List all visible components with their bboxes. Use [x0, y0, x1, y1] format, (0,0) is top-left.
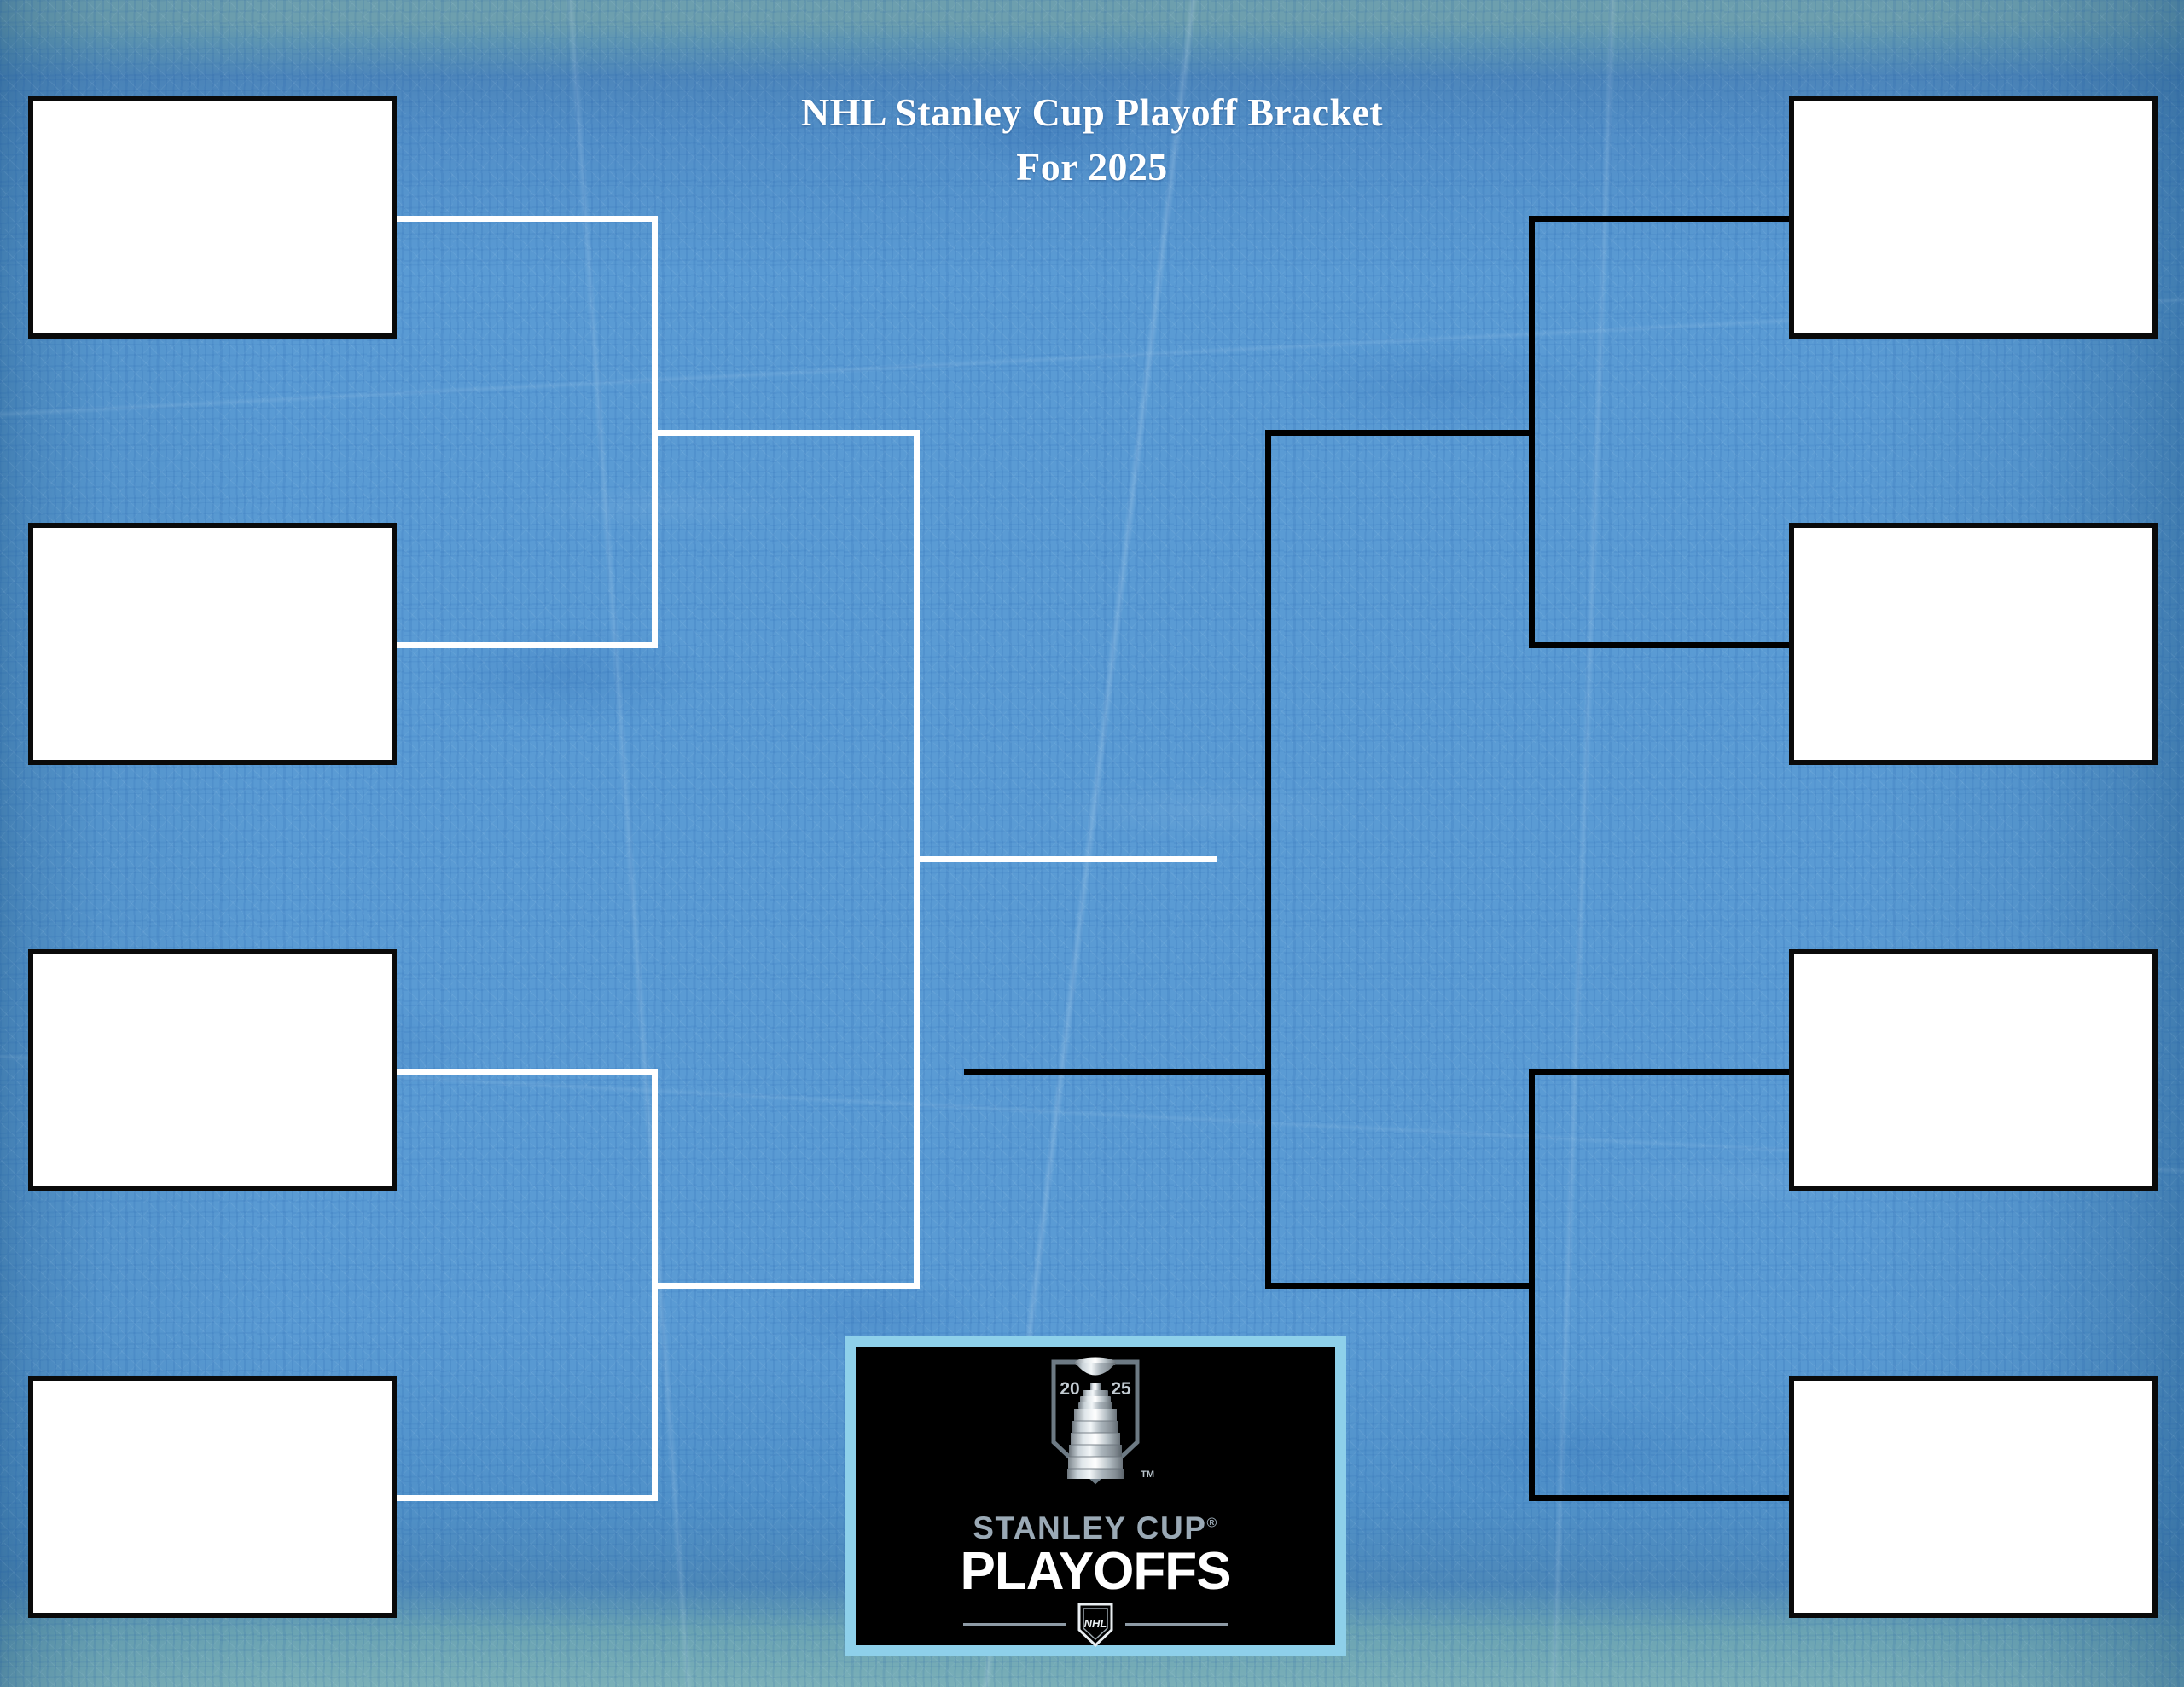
logo-divider-row: NHL — [856, 1601, 1335, 1649]
left-connector-bottom-horizontal-a — [395, 642, 658, 648]
logo-inner-panel: 20 25 — [856, 1347, 1335, 1645]
nhl-shield-icon: NHL — [1074, 1601, 1117, 1649]
svg-text:25: 25 — [1111, 1379, 1131, 1399]
right-connector-feed-c — [1265, 430, 1535, 436]
right-connector-bottom-horizontal-c — [1529, 642, 1793, 648]
right-connector-top-horizontal-d — [1529, 1069, 1793, 1075]
stanley-cup-playoffs-logo: 20 25 — [845, 1336, 1346, 1656]
svg-text:NHL: NHL — [1084, 1617, 1107, 1630]
right-connector-top-horizontal-c — [1529, 216, 1793, 222]
bracket-poster: NHL Stanley Cup Playoff Bracket For 2025 — [0, 0, 2184, 1687]
right-slot-3[interactable] — [1789, 949, 2158, 1191]
left-connector-bottom-horizontal-b — [395, 1495, 658, 1501]
stanley-cup-trophy-icon: 20 25 — [1042, 1354, 1149, 1509]
left-conference-final-output — [914, 856, 1217, 862]
left-connector-top-horizontal-b — [395, 1069, 658, 1075]
left-slot-2[interactable] — [28, 523, 397, 765]
left-connector-feed-a — [652, 430, 920, 436]
logo-divider-left — [963, 1623, 1066, 1626]
left-connector-top-horizontal-a — [395, 216, 658, 222]
left-connector-feed-b — [652, 1283, 920, 1289]
right-slot-1[interactable] — [1789, 96, 2158, 339]
right-conference-final-output — [964, 1069, 1271, 1075]
left-slot-4[interactable] — [28, 1376, 397, 1618]
right-slot-4[interactable] — [1789, 1376, 2158, 1618]
left-slot-3[interactable] — [28, 949, 397, 1191]
trademark-icon: TM — [1141, 1470, 1154, 1480]
logo-wordmark-stanley-cup: STANLEY CUP® — [973, 1510, 1217, 1546]
logo-wordmark-playoffs: PLAYOFFS — [961, 1545, 1231, 1599]
logo-divider-right — [1125, 1623, 1228, 1626]
registered-mark-icon: ® — [1206, 1516, 1217, 1531]
right-connector-bottom-horizontal-d — [1529, 1495, 1793, 1501]
logo-wordmark-stanley-cup-text: STANLEY CUP — [973, 1510, 1206, 1545]
svg-text:20: 20 — [1060, 1379, 1079, 1399]
left-slot-1[interactable] — [28, 96, 397, 339]
right-slot-2[interactable] — [1789, 523, 2158, 765]
right-conference-final-vertical — [1265, 430, 1271, 1289]
right-connector-feed-d — [1265, 1283, 1535, 1289]
